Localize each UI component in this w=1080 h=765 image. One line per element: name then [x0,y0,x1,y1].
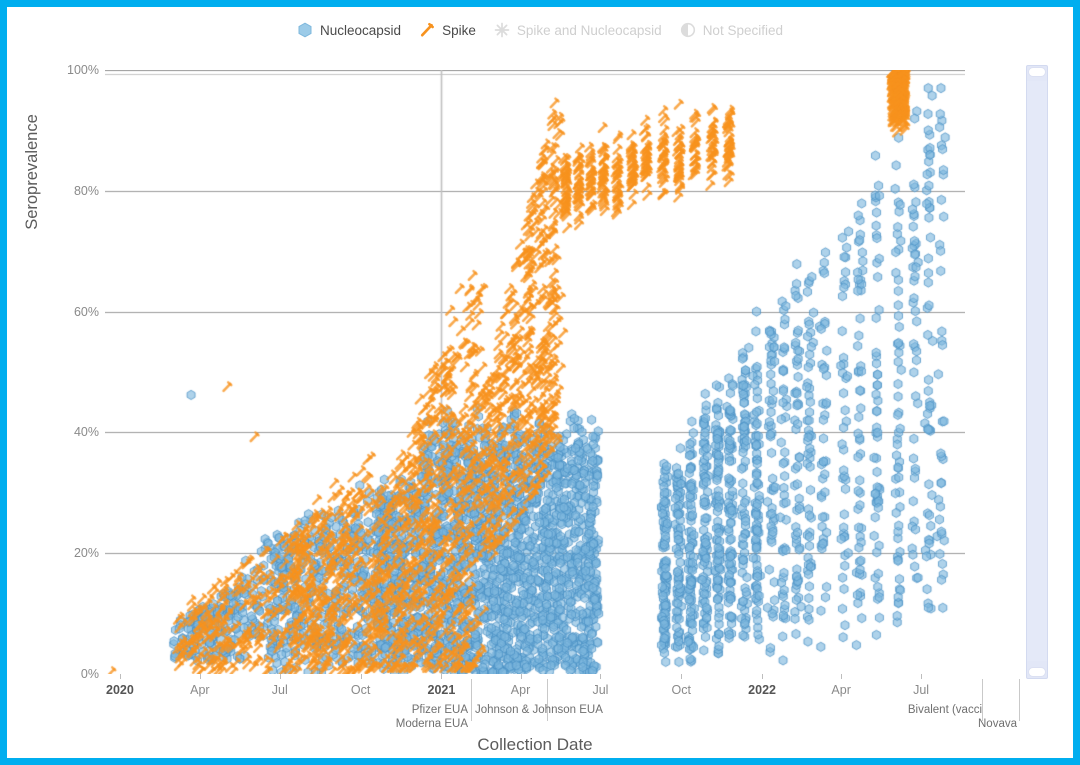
scrollbar-thumb[interactable] [1027,81,1047,661]
legend-item-not-specified[interactable]: Not Specified [680,22,783,38]
novavax-ref-line [1019,679,1020,721]
x-tick-mark [361,674,362,679]
x-tick-mark [841,674,842,679]
y-tick-label: 20% [53,546,99,560]
x-tick-label: 2020 [106,683,134,697]
legend-label-spike: Spike [442,23,476,38]
x-tick-label: Apr [831,683,850,697]
x-tick-label: 2022 [748,683,776,697]
x-tick-mark [120,674,121,679]
legend-item-spike[interactable]: Spike [419,22,476,38]
x-tick-label: Jul [592,683,608,697]
legend-label-spike-and-nucleocapsid: Spike and Nucleocapsid [517,23,662,38]
half-circle-icon [680,22,696,38]
slash-icon [419,22,435,38]
x-tick-mark [441,674,442,679]
x-axis-ticks: 2020AprJulOct2021AprJulOct2022AprJul [105,674,965,698]
scroll-down-button[interactable] [1028,667,1046,677]
hexagon-icon [297,22,313,38]
y-tick-label: 80% [53,184,99,198]
annotation-novavax: Novava [927,717,1017,731]
x-tick-mark [762,674,763,679]
legend-label-nucleocapsid: Nucleocapsid [320,23,401,38]
asterisk-icon [494,22,510,38]
scatter-plot-area[interactable] [105,70,965,674]
x-tick-label: Jul [272,683,288,697]
annotation-pfizer-line1: Pfizer EUA [371,703,468,717]
x-tick-mark [200,674,201,679]
annotation-pfizer-eua: Pfizer EUA Moderna EUA [371,703,468,731]
x-tick-mark [921,674,922,679]
annotation-moderna-line2: Moderna EUA [371,717,468,731]
scatter-plot-canvas[interactable] [105,70,965,674]
y-tick-label: 0% [53,667,99,681]
x-tick-mark [280,674,281,679]
y-tick-label: 60% [53,305,99,319]
y-axis-ticks: 0%20%40%60%80%100% [47,70,99,674]
legend-item-nucleocapsid[interactable]: Nucleocapsid [297,22,401,38]
x-tick-label: Apr [511,683,530,697]
x-tick-label: Jul [913,683,929,697]
y-tick-label: 40% [53,425,99,439]
x-tick-label: Oct [351,683,370,697]
annotation-jj-eua: Johnson & Johnson EUA [475,703,603,717]
x-tick-label: Oct [672,683,691,697]
scroll-up-button[interactable] [1028,67,1046,77]
vertical-scrollbar[interactable] [1024,65,1050,679]
x-tick-mark [521,674,522,679]
bivalent-ref-line [982,679,983,721]
annotation-bivalent: Bivalent (vacci [887,703,982,717]
x-tick-mark [681,674,682,679]
x-tick-label: 2021 [428,683,456,697]
x-tick-label: Apr [190,683,209,697]
y-tick-label: 100% [53,63,99,77]
x-axis-title: Collection Date [105,735,965,755]
chart-frame: Nucleocapsid Spike Spike and Nucleocapsi… [0,0,1080,765]
x-tick-mark [600,674,601,679]
legend-item-spike-and-nucleocapsid[interactable]: Spike and Nucleocapsid [494,22,662,38]
y-axis-title: Seroprevalence [23,62,42,282]
legend-label-not-specified: Not Specified [703,23,783,38]
chart-legend: Nucleocapsid Spike Spike and Nucleocapsi… [7,17,1073,43]
